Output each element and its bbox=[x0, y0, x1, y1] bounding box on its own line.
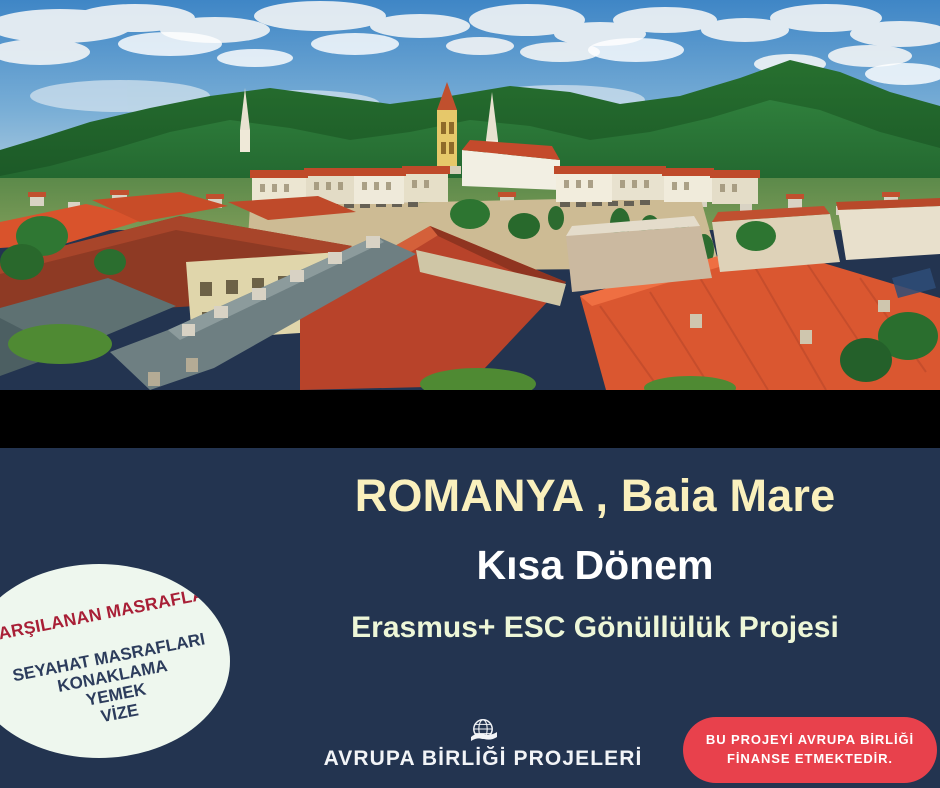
eu-funding-badge-line1: BU PROJEYİ AVRUPA BİRLİĞİ bbox=[706, 731, 914, 750]
city-photo-banner bbox=[0, 0, 940, 390]
black-divider-band bbox=[0, 390, 940, 448]
solar-panel bbox=[892, 268, 936, 298]
page-title: ROMANYA , Baia Mare bbox=[250, 470, 940, 522]
page-project-subtitle: Erasmus+ ESC Gönüllülük Projesi bbox=[250, 610, 940, 646]
city-photo-illustration bbox=[0, 0, 940, 390]
footer-logo-text: AVRUPA BİRLİĞİ PROJELERİ bbox=[318, 747, 648, 771]
globe-icon bbox=[467, 718, 499, 745]
poster-root: ROMANYA , Baia Mare Kısa Dönem Erasmus+ … bbox=[0, 0, 940, 788]
covered-expenses-badge: KARŞILANAN MASRAFLAR SEYAHAT MASRAFLARI … bbox=[0, 564, 230, 758]
footer-logo: AVRUPA BİRLİĞİ PROJELERİ bbox=[318, 718, 648, 771]
covered-expenses-list: SEYAHAT MASRAFLARI KONAKLAMA YEMEK VİZE bbox=[4, 628, 225, 743]
title-block: ROMANYA , Baia Mare Kısa Dönem Erasmus+ … bbox=[250, 470, 940, 646]
eu-funding-badge-line2: FİNANSE ETMEKTEDİR. bbox=[727, 750, 893, 769]
covered-expenses-badge-inner: KARŞILANAN MASRAFLAR SEYAHAT MASRAFLARI … bbox=[0, 564, 230, 758]
page-subtitle: Kısa Dönem bbox=[250, 541, 940, 590]
eu-funding-badge: BU PROJEYİ AVRUPA BİRLİĞİ FİNANSE ETMEKT… bbox=[683, 717, 937, 783]
